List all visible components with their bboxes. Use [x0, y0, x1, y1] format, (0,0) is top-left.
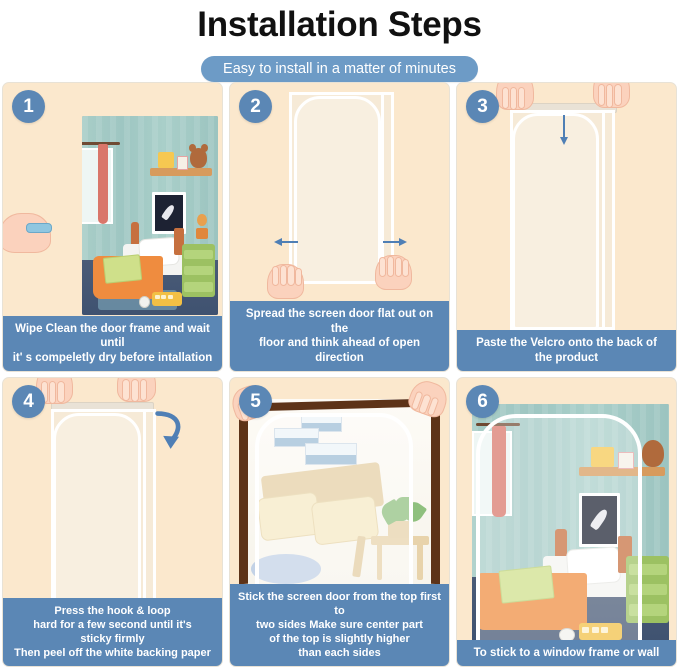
wiping-hand: [3, 213, 51, 253]
screen-door-seam-4: [143, 409, 146, 598]
step-caption-4: Press the hook & loop hard for a few sec…: [3, 598, 222, 666]
open-book: [102, 254, 142, 284]
drawer-2: [184, 266, 213, 275]
finger: [402, 259, 409, 277]
finger: [49, 381, 56, 404]
caption-line: Then peel off the white backing paper: [10, 646, 215, 660]
step-5-illustration: 5: [230, 378, 449, 584]
step-2-illustration: 2: [230, 83, 449, 301]
step-number-badge-6: 6: [466, 385, 499, 418]
arrow-shaft: [563, 115, 565, 138]
caption-line: Spread the screen door flat out on the: [237, 307, 442, 336]
bus-window-3: [168, 295, 173, 300]
shelf-box: [158, 152, 174, 168]
finger: [606, 84, 613, 107]
caption-line: Stick the screen door from the top first…: [237, 590, 442, 618]
screen-door-overlay-6: [476, 414, 642, 640]
finger: [57, 381, 64, 403]
bedroom-scene-6: [472, 404, 669, 639]
step-caption-5: Stick the screen door from the top first…: [230, 584, 449, 666]
arrow-head: [274, 238, 282, 246]
installation-steps-page: Installation Steps Easy to install in a …: [0, 0, 679, 669]
finger: [502, 87, 509, 109]
caption-line: Paste the Velcro onto the back of: [464, 336, 669, 351]
screen-door-mesh-2: [294, 96, 382, 283]
step-panel-5: 5: [229, 377, 450, 667]
arrow-right: [383, 238, 407, 246]
step-panel-6: 6: [456, 377, 677, 667]
finger: [272, 266, 279, 286]
step-caption-6: To stick to a window frame or wall: [457, 640, 676, 667]
step-caption-2: Spread the screen door flat out on the f…: [230, 301, 449, 371]
screen-door-seam-3: [602, 110, 605, 330]
teddy-bear-ear-right: [201, 144, 208, 152]
shelf-book: [177, 156, 189, 170]
finger: [140, 379, 148, 401]
hand-right-3: [593, 83, 630, 108]
header: Installation Steps Easy to install in a …: [0, 0, 679, 82]
step-panel-2: 2: [229, 82, 450, 372]
step-number-badge-3: 3: [466, 90, 499, 123]
arrow-head: [560, 137, 568, 145]
step-number-badge-4: 4: [12, 385, 45, 418]
finger: [280, 265, 287, 287]
curtain: [98, 144, 108, 224]
door-frame-right-5: [431, 402, 440, 584]
step-6-illustration: 6: [457, 378, 676, 640]
steps-grid: 1: [0, 82, 679, 669]
caption-line: hard for a few second until it's: [10, 618, 215, 632]
step-number-badge-5: 5: [239, 385, 272, 418]
hand-left-3: [496, 83, 533, 110]
teddy-bear-ear-left: [189, 144, 196, 152]
step-number-badge-1: 1: [12, 90, 45, 123]
caption-line: floor and think ahead of open direction: [237, 336, 442, 365]
drawer-3: [184, 282, 213, 291]
finger: [395, 257, 402, 278]
step-caption-1: Wipe Clean the door frame and wait until…: [3, 316, 222, 372]
finger: [379, 257, 386, 277]
finger: [122, 379, 130, 401]
arrow-down-3: [560, 115, 568, 145]
caption-line: of the top is slightly higher: [237, 632, 442, 646]
arrow-head: [399, 238, 407, 246]
lamp-shade: [196, 228, 208, 240]
caption-line: Press the hook & loop: [10, 604, 215, 618]
step-number-badge-2: 2: [239, 90, 272, 123]
drawer-1: [184, 250, 213, 259]
subtitle-container: Easy to install in a matter of minutes: [0, 56, 679, 82]
finger: [598, 84, 605, 106]
livingroom-scene-5: [248, 399, 441, 584]
step-caption-3: Paste the Velcro onto the back of the pr…: [457, 330, 676, 371]
subtitle-pill: Easy to install in a matter of minutes: [201, 56, 478, 82]
finger: [131, 379, 139, 402]
teddy-bear: [642, 440, 664, 466]
finger: [287, 265, 294, 286]
caption-line: the product: [464, 351, 669, 366]
bedroom-scene-1: [82, 116, 218, 316]
bus-window-2: [161, 295, 166, 300]
step-4-illustration: 4: [3, 378, 222, 598]
caption-line: than each sides: [237, 646, 442, 660]
step-panel-4: 4: [2, 377, 223, 667]
hand-right-4: [117, 378, 156, 402]
screen-door-mesh-4: [53, 413, 141, 598]
caption-line: sticky firmly: [10, 632, 215, 646]
finger: [518, 87, 525, 109]
door-frame-6: [472, 404, 669, 639]
toy-bus: [152, 292, 182, 306]
side-table-leg-2: [417, 543, 423, 580]
finger: [510, 87, 517, 110]
peel-arrow-4: [152, 407, 189, 455]
screen-door-mesh-3: [512, 113, 600, 330]
arrow-left: [274, 238, 298, 246]
toy-ball: [139, 296, 151, 308]
cleaning-cloth: [26, 223, 52, 234]
door-frame-left-5: [239, 398, 248, 584]
step-panel-1: 1: [2, 82, 223, 372]
rocket-icon: [161, 203, 175, 220]
door-frame-1: [82, 116, 218, 316]
step-panel-3: 3: [456, 82, 677, 372]
finger: [614, 84, 621, 106]
finger: [295, 268, 302, 286]
step-3-illustration: 3: [457, 83, 676, 330]
caption-line: Wipe Clean the door frame and wait until: [10, 322, 215, 351]
lamp-ball: [197, 214, 207, 226]
nightstand: [182, 244, 215, 298]
caption-line: it' s compeletly dry before intallation: [10, 351, 215, 366]
step-1-illustration: 1: [3, 83, 222, 316]
caption-line: To stick to a window frame or wall: [464, 646, 669, 661]
caption-line: two sides Make sure center part: [237, 618, 442, 632]
screen-door-overlay-5: [255, 413, 413, 584]
bus-window-1: [155, 295, 160, 300]
finger: [387, 256, 394, 278]
hand-right-2: [375, 255, 412, 290]
page-title: Installation Steps: [0, 4, 679, 46]
hand-left-2: [267, 264, 304, 299]
